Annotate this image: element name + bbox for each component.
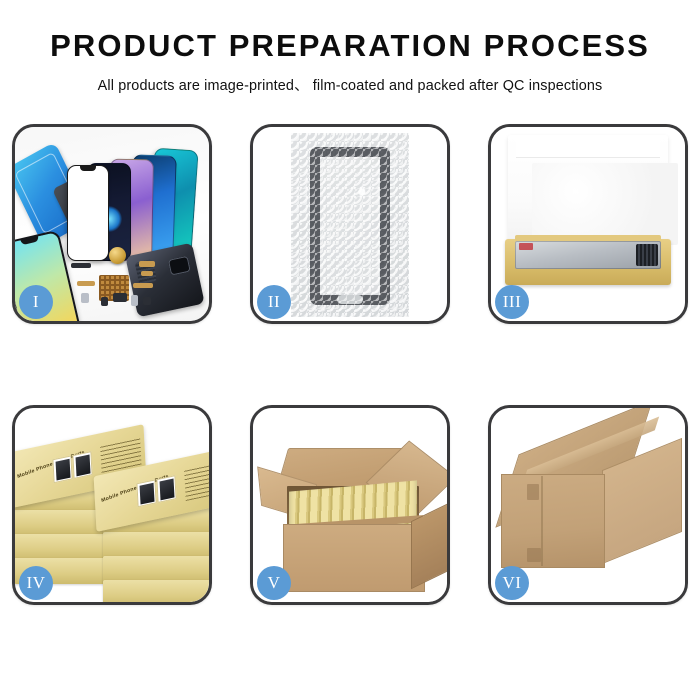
process-row-top: I II III: [0, 124, 700, 324]
carton-front-face: [283, 524, 425, 592]
process-step-1[interactable]: I: [12, 124, 212, 324]
bubble-wrap-sheet: [291, 133, 409, 317]
speaker-part: [101, 297, 108, 306]
step-6-badge: VI: [495, 566, 529, 600]
process-step-6[interactable]: VI: [488, 405, 688, 605]
screen-inside-tray: [515, 241, 661, 269]
vibration-motor-part: [109, 247, 126, 264]
box-window-left: [136, 479, 156, 507]
carton-tab-lower: [527, 548, 541, 562]
process-step-4[interactable]: Mobile Phone Spare Parts Mobile Phone Sp…: [12, 405, 212, 605]
phone-white-glass: [67, 165, 109, 261]
step-5-badge: V: [257, 566, 291, 600]
spare-parts-group: [71, 253, 175, 321]
step-2-badge: II: [257, 285, 291, 319]
sealed-carton: [501, 432, 681, 582]
wrapped-phone-screen: [310, 147, 390, 305]
foam-sheet: [532, 163, 678, 245]
camera-module-part: [113, 293, 127, 302]
stacked-box: [103, 556, 209, 582]
open-carton: [259, 424, 445, 594]
box-window-left: [52, 455, 72, 483]
sensor-part: [143, 297, 151, 305]
process-step-grid: I II III: [0, 124, 700, 605]
step-3-badge: III: [495, 285, 529, 319]
button-part: [81, 293, 89, 303]
step-1-badge: I: [19, 285, 53, 319]
page-subtitle: All products are image-printed、 film-coa…: [0, 74, 700, 95]
box-window-right: [72, 451, 92, 479]
process-step-3[interactable]: III: [488, 124, 688, 324]
carton-tab-upper: [527, 484, 539, 500]
sim-tray-part: [131, 295, 138, 306]
carton-front-face: [501, 474, 605, 568]
flex-cable-part: [71, 263, 91, 268]
ribbon-cable-part: [77, 281, 95, 286]
process-step-5[interactable]: V: [250, 405, 450, 605]
process-row-bottom: Mobile Phone Spare Parts Mobile Phone Sp…: [0, 405, 700, 605]
stacked-box: [103, 580, 209, 602]
carton-fold-seam: [541, 476, 543, 566]
box-window-right: [156, 475, 176, 503]
page-header: PRODUCT PREPARATION PROCESS All products…: [0, 0, 700, 95]
process-step-2[interactable]: II: [250, 124, 450, 324]
page-title: PRODUCT PREPARATION PROCESS: [0, 30, 700, 63]
step-4-badge: IV: [19, 566, 53, 600]
antenna-part: [133, 283, 153, 288]
connector-part-b: [141, 271, 153, 276]
box-spec-text-lines: [184, 461, 209, 501]
white-foam-lid: [508, 135, 668, 245]
connector-part-a: [139, 261, 155, 267]
stacked-box: [103, 532, 209, 558]
